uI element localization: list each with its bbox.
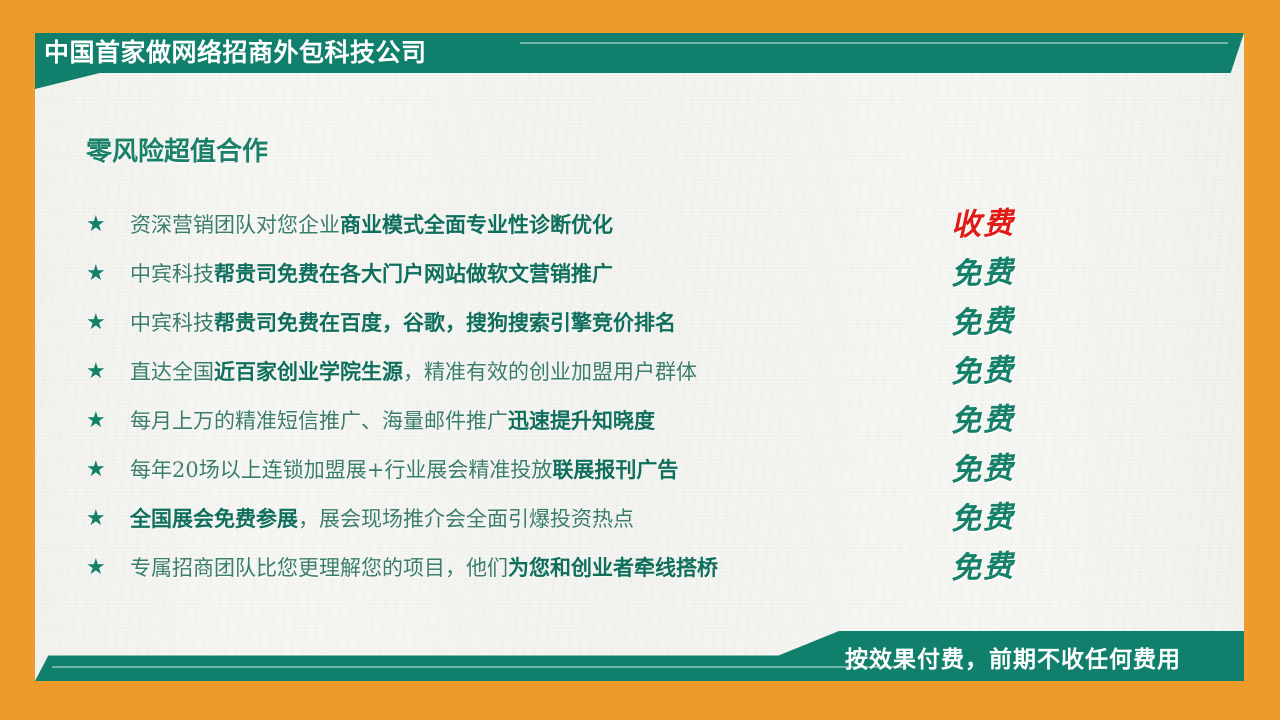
footer-tagline: 按效果付费，前期不收任何费用: [845, 645, 1181, 675]
benefit-text-plain-before: 中宾科技: [130, 262, 214, 286]
benefit-row: ★专属招商团队比您更理解您的项目，他们为您和创业者牵线搭桥免费: [86, 543, 1086, 592]
benefit-row: ★每年20场以上连锁加盟展+行业展会精准投放联展报刊广告免费: [86, 445, 1086, 494]
price-badge: 收费: [950, 205, 1061, 243]
benefit-text-emphasis: 全国展会免费参展: [130, 506, 298, 531]
benefit-text-plain-before: 每年20场以上连锁加盟展+行业展会精准投放: [130, 458, 552, 482]
header-hairline: [520, 42, 1228, 44]
header-title: 中国首家做网络招商外包科技公司: [44, 36, 427, 70]
star-bullet-icon: ★: [86, 263, 130, 285]
benefit-list: ★资深营销团队对您企业商业模式全面专业性诊断优化收费★中宾科技帮贵司免费在各大门…: [86, 200, 1086, 592]
benefit-text: 中宾科技帮贵司免费在百度，谷歌，搜狗搜索引擎竞价排名: [130, 308, 1086, 338]
star-bullet-icon: ★: [86, 508, 130, 530]
benefit-text-emphasis: 近百家创业学院生源: [214, 359, 403, 384]
benefit-text: 全国展会免费参展，展会现场推介会全面引爆投资热点: [130, 504, 1086, 534]
benefit-text-emphasis: 帮贵司免费在百度，谷歌，搜狗搜索引擎竞价排名: [214, 310, 676, 335]
benefit-text-emphasis: 为您和创业者牵线搭桥: [508, 555, 718, 580]
price-badge: 免费: [950, 352, 1061, 390]
price-badge: 免费: [950, 254, 1061, 292]
price-badge: 免费: [950, 499, 1061, 537]
benefit-text: 专属招商团队比您更理解您的项目，他们为您和创业者牵线搭桥: [130, 553, 1086, 583]
benefit-text-plain-before: 资深营销团队对您企业: [130, 213, 340, 237]
star-bullet-icon: ★: [86, 557, 130, 579]
benefit-row: ★每月上万的精准短信推广、海量邮件推广迅速提升知晓度免费: [86, 396, 1086, 445]
star-bullet-icon: ★: [86, 312, 130, 334]
benefit-row: ★全国展会免费参展，展会现场推介会全面引爆投资热点免费: [86, 494, 1086, 543]
footer-hairline: [52, 666, 907, 668]
benefit-row: ★资深营销团队对您企业商业模式全面专业性诊断优化收费: [86, 200, 1086, 249]
benefit-text: 资深营销团队对您企业商业模式全面专业性诊断优化: [130, 210, 1086, 240]
benefit-text-plain-before: 中宾科技: [130, 311, 214, 335]
star-bullet-icon: ★: [86, 459, 130, 481]
benefit-row: ★直达全国近百家创业学院生源，精准有效的创业加盟用户群体免费: [86, 347, 1086, 396]
section-title: 零风险超值合作: [86, 134, 268, 170]
benefit-text: 直达全国近百家创业学院生源，精准有效的创业加盟用户群体: [130, 357, 1086, 387]
benefit-text: 中宾科技帮贵司免费在各大门户网站做软文营销推广: [130, 259, 1086, 289]
star-bullet-icon: ★: [86, 214, 130, 236]
benefit-text: 每年20场以上连锁加盟展+行业展会精准投放联展报刊广告: [130, 455, 1086, 485]
benefit-text-plain-after: ，展会现场推介会全面引爆投资热点: [298, 507, 634, 531]
benefit-text: 每月上万的精准短信推广、海量邮件推广迅速提升知晓度: [130, 406, 1086, 436]
benefit-text-plain-before: 每月上万的精准短信推广、海量邮件推广: [130, 409, 508, 433]
slide-root: 中国首家做网络招商外包科技公司 零风险超值合作 ★资深营销团队对您企业商业模式全…: [0, 0, 1280, 720]
price-badge: 免费: [950, 401, 1061, 439]
benefit-text-emphasis: 迅速提升知晓度: [508, 408, 655, 433]
star-bullet-icon: ★: [86, 361, 130, 383]
benefit-text-plain-before: 专属招商团队比您更理解您的项目，他们: [130, 556, 508, 580]
benefit-text-emphasis: 商业模式全面专业性诊断优化: [340, 212, 613, 237]
benefit-text-plain-after: ，精准有效的创业加盟用户群体: [403, 360, 697, 384]
price-badge: 免费: [950, 303, 1061, 341]
benefit-text-plain-before: 直达全国: [130, 360, 214, 384]
benefit-text-emphasis: 联展报刊广告: [552, 457, 678, 482]
benefit-text-emphasis: 帮贵司免费在各大门户网站做软文营销推广: [214, 261, 613, 286]
benefit-row: ★中宾科技帮贵司免费在百度，谷歌，搜狗搜索引擎竞价排名免费: [86, 298, 1086, 347]
star-bullet-icon: ★: [86, 410, 130, 432]
benefit-row: ★中宾科技帮贵司免费在各大门户网站做软文营销推广免费: [86, 249, 1086, 298]
price-badge: 免费: [950, 450, 1061, 488]
price-badge: 免费: [950, 548, 1061, 586]
